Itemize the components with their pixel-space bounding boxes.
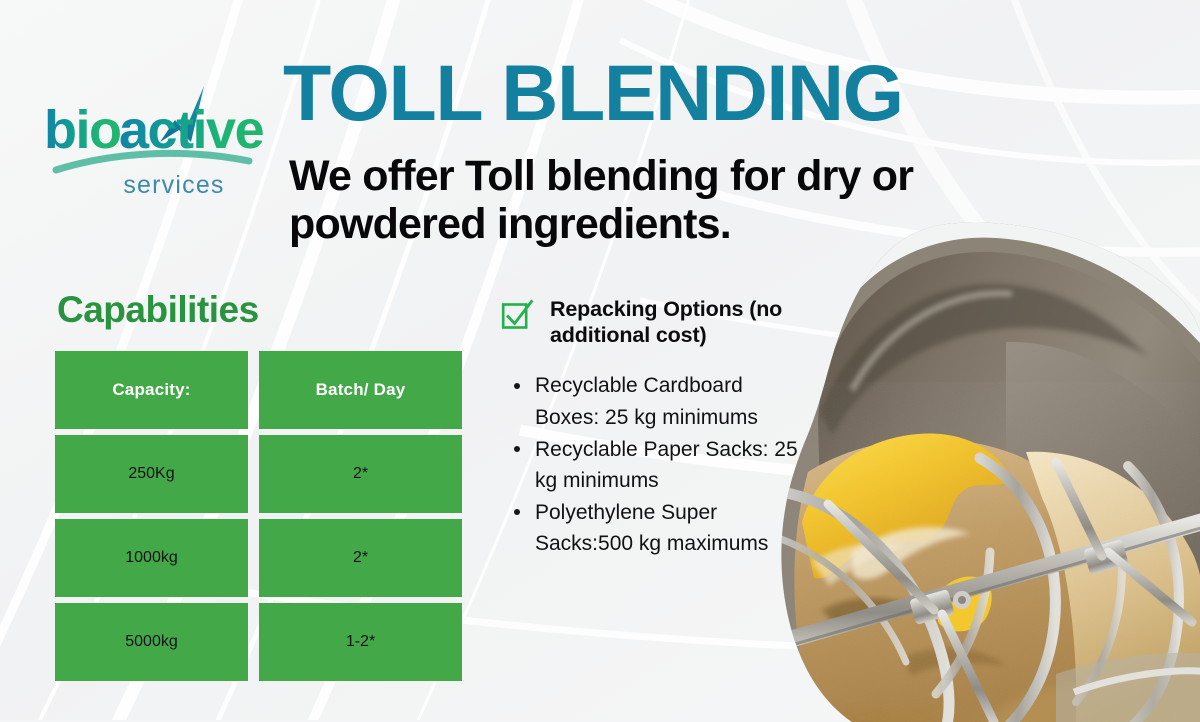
table-cell-capacity-1: 250Kg: [55, 435, 248, 513]
table-cell-capacity-2: 1000kg: [55, 519, 248, 597]
logo-subtext: services: [123, 171, 224, 199]
repacking-options-section: Repacking Options (no additional cost) R…: [500, 296, 845, 560]
repacking-title: Repacking Options (no additional cost): [550, 296, 825, 348]
table-header-capacity: Capacity:: [55, 351, 248, 429]
capabilities-heading: Capabilities: [57, 289, 259, 331]
table-cell-batch-2: 2*: [259, 519, 462, 597]
brand-logo: bio active services: [44, 78, 284, 200]
page-subtitle: We offer Toll blending for dry or powder…: [289, 152, 1049, 248]
logo-wordmark: bio: [44, 100, 120, 160]
repacking-header: Repacking Options (no additional cost): [500, 296, 845, 348]
list-item: Polyethylene Super Sacks:500 kg maximums: [500, 497, 800, 559]
logo-graphic: bio active services: [44, 78, 284, 200]
bullet-icon: [514, 383, 520, 389]
table-header-batch-per-day: Batch/ Day: [259, 351, 462, 429]
table-cell-capacity-3: 5000kg: [55, 603, 248, 681]
list-item-label: Recyclable Cardboard Boxes: 25 kg minimu…: [535, 374, 758, 428]
repacking-list: Recyclable Cardboard Boxes: 25 kg minimu…: [500, 370, 800, 558]
bullet-icon: [514, 509, 520, 515]
table-cell-batch-3: 1-2*: [259, 603, 462, 681]
list-item: Recyclable Cardboard Boxes: 25 kg minimu…: [500, 370, 800, 432]
list-item-label: Polyethylene Super Sacks:500 kg maximums: [535, 501, 768, 555]
checkbox-checked-icon: [500, 298, 534, 332]
capabilities-table: Capacity: Batch/ Day 250Kg 2* 1000kg 2* …: [55, 351, 462, 681]
table-cell-batch-1: 2*: [259, 435, 462, 513]
list-item: Recyclable Paper Sacks: 25 kg minimums: [500, 434, 800, 496]
bullet-icon: [514, 446, 520, 452]
page-title: TOLL BLENDING: [283, 55, 903, 130]
list-item-label: Recyclable Paper Sacks: 25 kg minimums: [535, 438, 798, 492]
